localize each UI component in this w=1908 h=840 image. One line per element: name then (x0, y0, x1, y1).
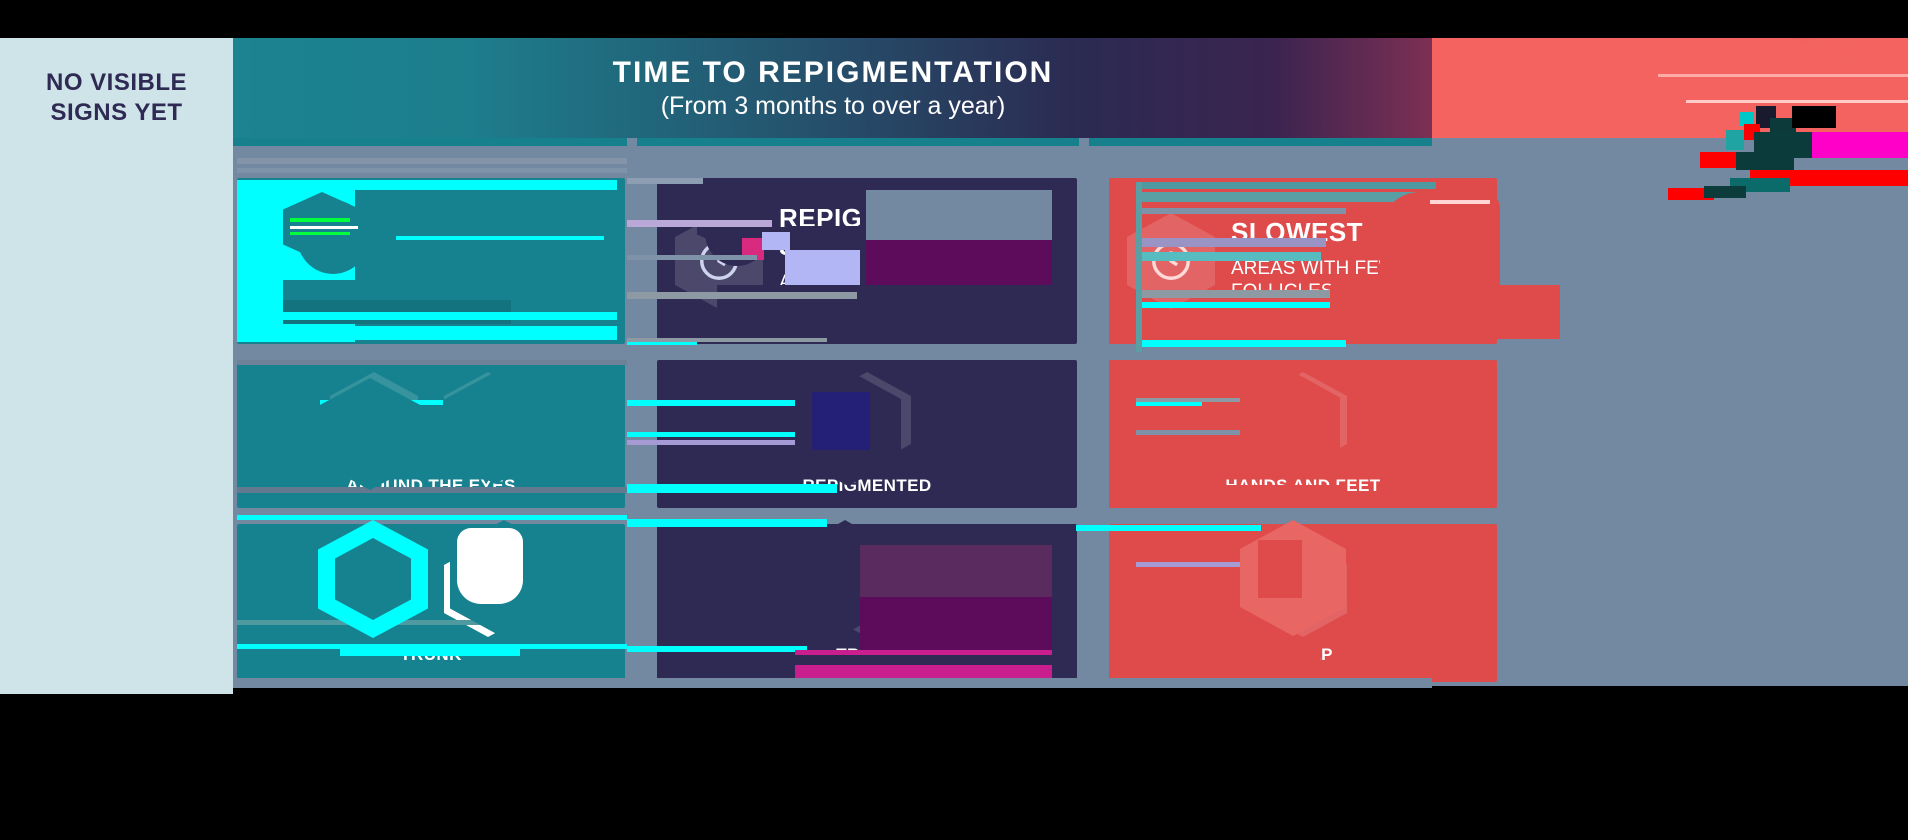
red-strip (1672, 86, 1908, 89)
col3-header-line1: SLOWEST (1231, 218, 1479, 247)
droplet-icon (1259, 541, 1347, 637)
col3-header-card[interactable]: SLOWEST AREAS WITH FEW FOLLICLES (1109, 178, 1497, 344)
sidebar-title: NO VISIBLE SIGNS YET (17, 68, 217, 128)
red-strip (1698, 110, 1908, 113)
col3-row2-label: SCALP (1273, 645, 1333, 665)
red-strip (1642, 64, 1908, 67)
banner-title: TIME TO REPIGMENTATION (613, 56, 1054, 90)
sidebar: NO VISIBLE SIGNS YET (0, 38, 233, 840)
hand-icon (330, 372, 418, 468)
col2-row-2[interactable]: TRUNK (657, 524, 1077, 682)
red-strip (1686, 100, 1908, 103)
top-black-bar-left (0, 0, 1432, 38)
clock-icon (1127, 213, 1215, 309)
droplet-icon (330, 541, 418, 637)
hand-icon (823, 372, 911, 468)
col2-header-line2: SLOWLY (779, 232, 1059, 261)
column-separator (627, 138, 637, 840)
banner-subtitle: (From 3 months to over a year) (661, 92, 1006, 121)
hand-icon (1259, 372, 1347, 468)
col2-header-line1: REPIGMENTATION (779, 204, 1059, 233)
col2-header-card[interactable]: REPIGMENTATION SLOWLY AREAS WITH MORE HA… (657, 178, 1077, 344)
clock-icon (255, 213, 343, 309)
top-black-bar-right (1432, 0, 1908, 38)
col1-header-line2: STARTS (359, 261, 598, 290)
clock-icon (675, 213, 763, 309)
col1-row1-label: AROUND THE EYES (346, 476, 515, 496)
col3-header-line2: AREAS WITH FEW FOLLICLES (1231, 257, 1479, 305)
face-icon (444, 372, 532, 468)
col1-row-2[interactable]: TRUNK (237, 524, 625, 682)
col1-header-card[interactable]: REPIGMENTATION STARTS (237, 178, 625, 344)
red-strip (1732, 130, 1908, 133)
col3-row1-label: HANDS AND FEET (1225, 476, 1380, 496)
infographic-page: NO VISIBLE SIGNS YET TIME TO REPIGMENTAT… (0, 0, 1908, 840)
col2-row-1[interactable]: REPIGMENTED (657, 360, 1077, 508)
col1-row2-label: TRUNK (400, 645, 462, 665)
col3-row-1[interactable]: HANDS AND FEET (1109, 360, 1497, 508)
col2-row2-label: TRUNK (836, 645, 898, 665)
banner-text-block: TIME TO REPIGMENTATION (From 3 months to… (233, 38, 1433, 138)
col1-header-line1: REPIGMENTATION (359, 232, 598, 261)
col2-header-line3: AREAS WITH MORE HAIR FOLLICLES (779, 271, 1059, 319)
content-canvas: REPIGMENTATION STARTS (233, 138, 1908, 840)
teal-divider (233, 138, 1432, 146)
red-strip (1612, 50, 1902, 53)
red-strip (1658, 74, 1908, 77)
col1-row-1[interactable]: AROUND THE EYES (237, 360, 625, 508)
droplet-icon (823, 541, 911, 637)
torso-icon (444, 541, 532, 637)
col3-row-2[interactable]: SCALP (1109, 524, 1497, 682)
column-separator (1079, 138, 1089, 840)
col2-row1-label: REPIGMENTED (802, 476, 931, 496)
